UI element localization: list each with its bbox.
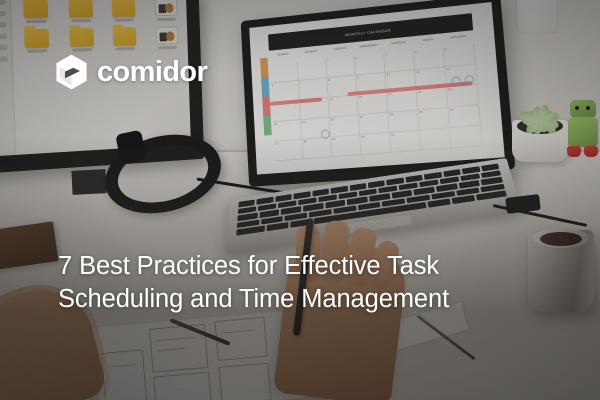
page-title-line-2: Scheduling and Time Management	[58, 283, 528, 316]
page-title-line-1: 7 Best Practices for Effective Task	[58, 250, 528, 283]
page-title: 7 Best Practices for Effective Task Sche…	[58, 250, 528, 316]
hero-banner: MONTHLY CALENDAR SUNDAY MONDAY TUESDAY W…	[0, 0, 600, 400]
hexagon-cube-icon	[55, 54, 88, 90]
brand-logo[interactable]: comidor	[55, 54, 207, 90]
brand-name: comidor	[97, 58, 207, 87]
